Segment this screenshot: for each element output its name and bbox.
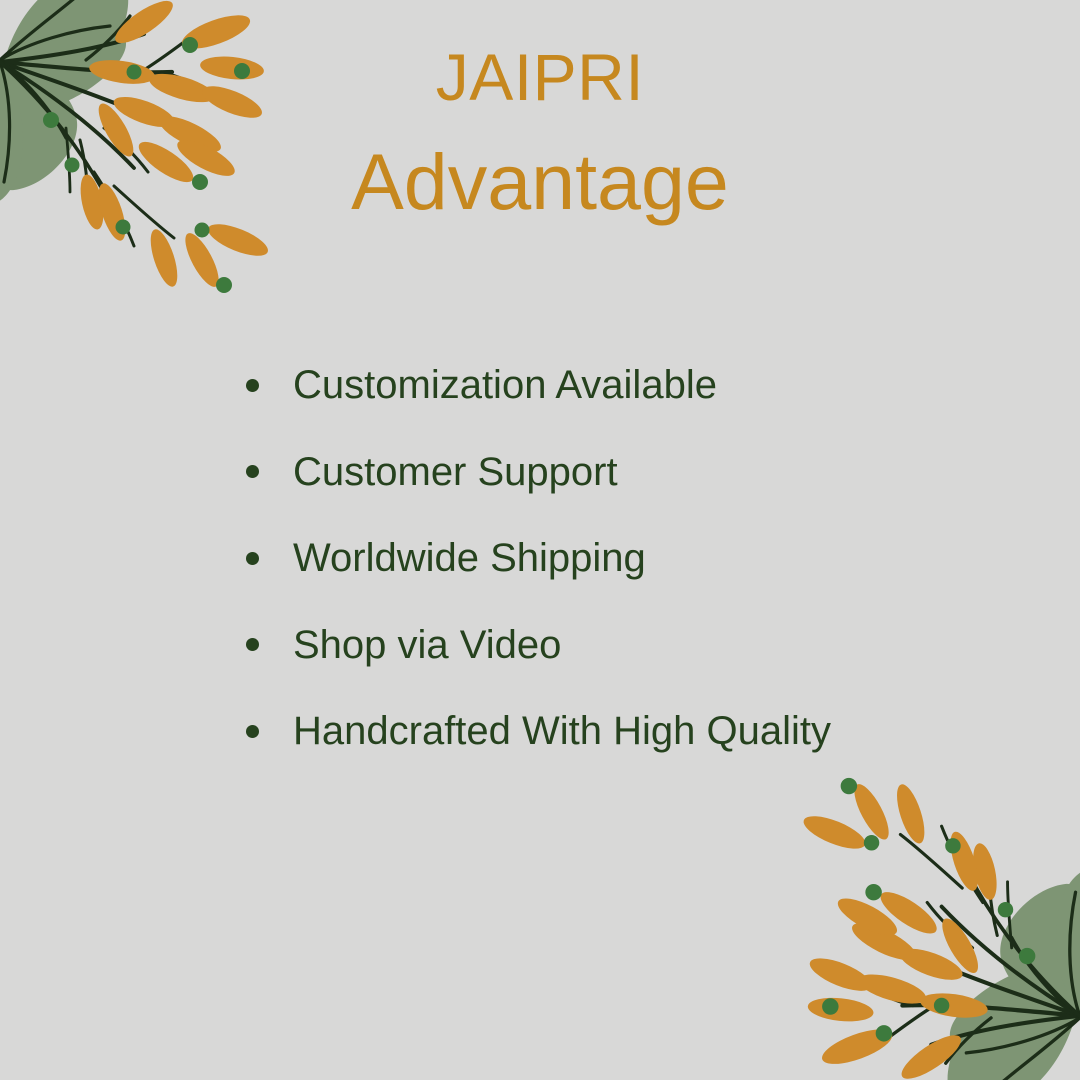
advantage-label: Customization Available <box>293 365 717 405</box>
list-item: Handcrafted With High Quality <box>246 688 1006 775</box>
advantage-label: Handcrafted With High Quality <box>293 711 831 751</box>
list-item: Worldwide Shipping <box>246 515 1006 602</box>
page-title: JAIPRI Advantage <box>0 44 1080 221</box>
list-item: Customization Available <box>246 342 1006 429</box>
advantage-label: Worldwide Shipping <box>293 538 646 578</box>
poster-canvas: JAIPRI Advantage Customization Available… <box>0 0 1080 1080</box>
bullet-dot-icon <box>246 465 259 478</box>
bullet-dot-icon <box>246 638 259 651</box>
bullet-dot-icon <box>246 379 259 392</box>
list-item: Customer Support <box>246 429 1006 516</box>
page-subtitle: Advantage <box>0 142 1080 221</box>
advantage-label: Shop via Video <box>293 625 561 665</box>
advantage-list: Customization Available Customer Support… <box>246 342 1006 775</box>
bullet-dot-icon <box>246 725 259 738</box>
botanical-branch-bottom-right-icon <box>756 750 1080 1080</box>
list-item: Shop via Video <box>246 602 1006 689</box>
bullet-dot-icon <box>246 552 259 565</box>
brand-name: JAIPRI <box>0 44 1080 110</box>
advantage-label: Customer Support <box>293 452 618 492</box>
